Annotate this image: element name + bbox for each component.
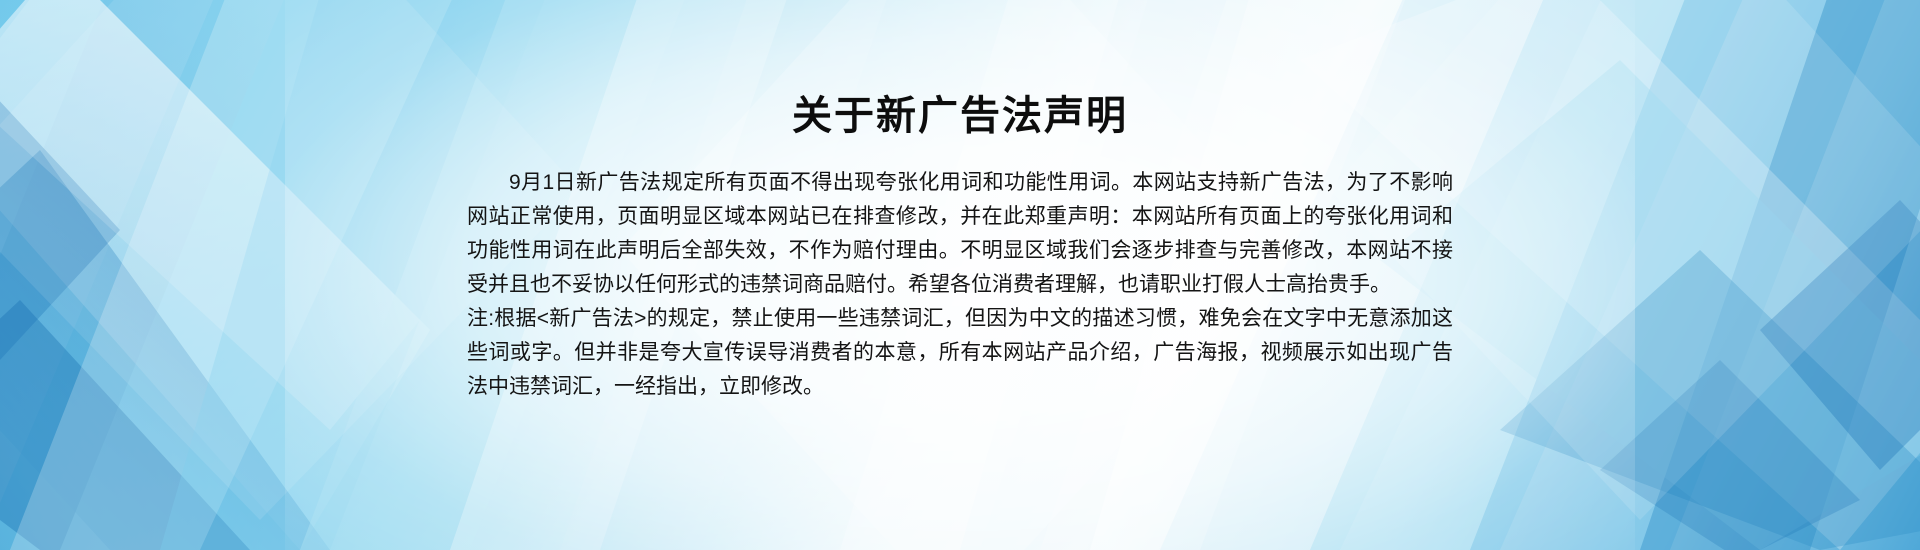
page-title: 关于新广告法声明: [792, 92, 1128, 140]
advertising-law-statement-banner: 关于新广告法声明 9月1日新广告法规定所有页面不得出现夸张化用词和功能性用词。本…: [0, 0, 1920, 550]
statement-paragraph-1: 9月1日新广告法规定所有页面不得出现夸张化用词和功能性用词。本网站支持新广告法，…: [467, 166, 1453, 302]
statement-paragraph-2: 注:根据<新广告法>的规定，禁止使用一些违禁词汇，但因为中文的描述习惯，难免会在…: [467, 302, 1453, 404]
statement-content: 关于新广告法声明 9月1日新广告法规定所有页面不得出现夸张化用词和功能性用词。本…: [0, 0, 1920, 550]
statement-body: 9月1日新广告法规定所有页面不得出现夸张化用词和功能性用词。本网站支持新广告法，…: [467, 166, 1453, 404]
